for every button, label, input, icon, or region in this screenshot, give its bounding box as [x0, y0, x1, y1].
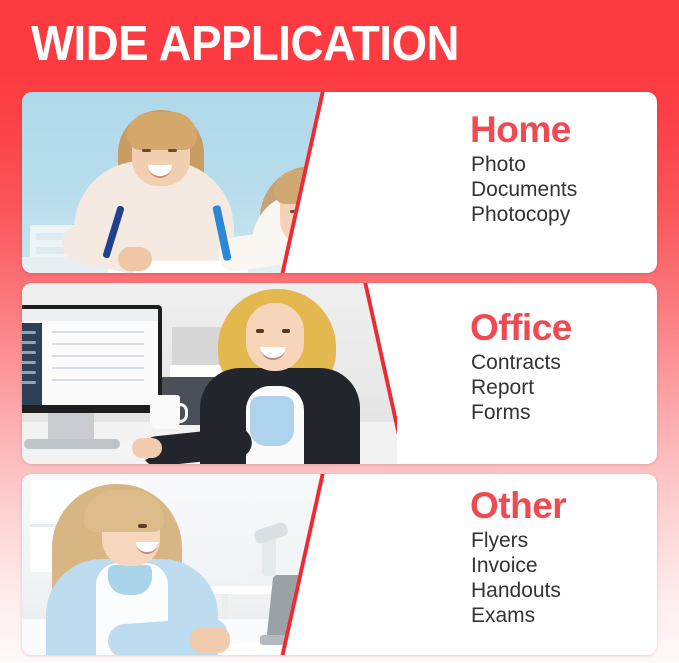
- lab-collar: [108, 565, 152, 595]
- worker-head: [246, 303, 304, 371]
- screen-text-line: [52, 355, 144, 357]
- list-item: Forms: [471, 400, 561, 425]
- screen-sidebar: [22, 323, 42, 405]
- adult-hand: [118, 247, 152, 271]
- category-heading-home: Home: [470, 110, 571, 150]
- screen-text-line: [52, 379, 144, 381]
- poster-root: WIDE APPLICATION: [0, 0, 679, 663]
- screen-sidebar-row: [22, 351, 36, 354]
- lab-woman-hands: [190, 627, 230, 653]
- adult-eye-right: [168, 149, 177, 152]
- application-card-office: Office Contracts Report Forms: [22, 283, 657, 464]
- category-heading-office: Office: [470, 308, 572, 348]
- card-text-panel-other: Other Flyers Invoice Handouts Exams: [446, 474, 657, 655]
- screen-text-line: [52, 343, 144, 345]
- card-photo-office: [22, 283, 397, 464]
- lab-woman-hair-top: [84, 490, 164, 532]
- screen-sidebar-row: [22, 371, 36, 374]
- card-text-panel-home: Home Photo Documents Photocopy: [446, 92, 657, 273]
- card-text-panel-office: Office Contracts Report Forms: [446, 283, 657, 464]
- list-item: Flyers: [471, 528, 561, 553]
- worker-bow-tie: [250, 396, 294, 446]
- list-item: Report: [471, 375, 561, 400]
- card-photo-other: [22, 474, 397, 655]
- screen-text-line: [52, 331, 144, 333]
- screen-toolbar: [22, 309, 158, 321]
- worker-hand: [132, 438, 162, 458]
- list-item: Exams: [471, 603, 561, 628]
- screen-sidebar-row: [22, 341, 36, 344]
- application-card-home: Home Photo Documents Photocopy: [22, 92, 657, 273]
- screen-sidebar-row: [22, 381, 36, 384]
- list-item: Documents: [471, 177, 577, 202]
- category-list-office: Contracts Report Forms: [471, 350, 561, 425]
- list-item: Invoice: [471, 553, 561, 578]
- application-card-other: Other Flyers Invoice Handouts Exams: [22, 474, 657, 655]
- card-photo-home: [22, 92, 397, 273]
- screen-text-line: [52, 367, 144, 369]
- list-item: Handouts: [471, 578, 561, 603]
- category-list-other: Flyers Invoice Handouts Exams: [471, 528, 561, 628]
- adult-eye-left: [142, 149, 151, 152]
- monitor-screen: [22, 309, 158, 405]
- scene-office-worker: [22, 283, 397, 464]
- worker-eye-left: [256, 329, 264, 333]
- coffee-mug-icon: [150, 395, 180, 429]
- adult-hair-top: [127, 112, 197, 150]
- monitor-foot: [24, 439, 120, 449]
- category-list-home: Photo Documents Photocopy: [471, 152, 577, 227]
- list-item: Contracts: [471, 350, 561, 375]
- screen-sidebar-row: [22, 361, 36, 364]
- list-item: Photo: [471, 152, 577, 177]
- worker-eye-right: [282, 329, 290, 333]
- page-title: WIDE APPLICATION: [31, 16, 459, 72]
- lab-woman-eye: [138, 524, 147, 528]
- category-heading-other: Other: [470, 486, 566, 526]
- list-item: Photocopy: [471, 202, 577, 227]
- screen-sidebar-row: [22, 331, 36, 334]
